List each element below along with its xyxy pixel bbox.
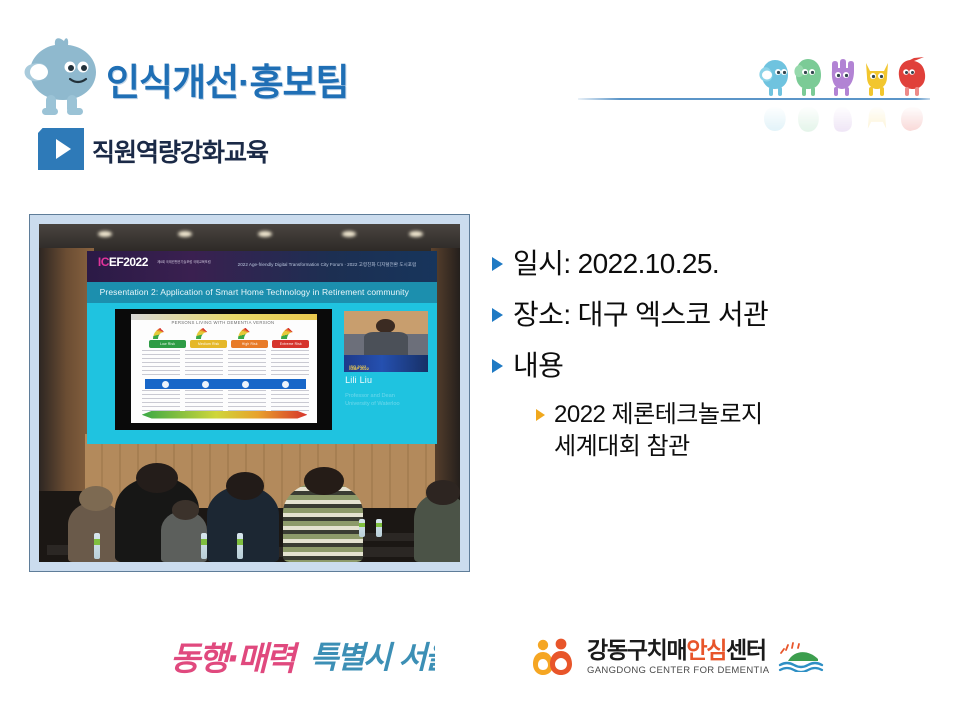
water-bottle (376, 519, 382, 537)
page-title: 인식개선·홍보팀 (106, 52, 349, 106)
bullet-item-date: 일시: 2022.10.25. (492, 246, 932, 283)
bullet-text: 장소: 대구 엑스코 서관 (513, 297, 768, 334)
text-column (142, 350, 181, 378)
speaker-name: Lili Liu (345, 375, 372, 385)
slide-presentation-title: Presentation 2: Application of Smart Hom… (87, 287, 409, 297)
bullet-triangle-icon (492, 308, 503, 322)
chart-text-columns-lower (142, 390, 310, 412)
risk-gauge-icon (281, 327, 305, 339)
gauge-row (153, 327, 306, 339)
water-bottle (359, 519, 365, 537)
seoul-slogan-part2: 특별시 서울 (310, 640, 435, 676)
ceiling-light (178, 231, 192, 237)
slide-logo-prefix: IC (98, 255, 109, 269)
slide-content-area: PERSONS LIVING WITH DEMENTIA VERSION Low… (115, 309, 332, 430)
bullet-triangle-icon (492, 257, 503, 271)
speaker-photo: ISG 2022 IGBP 2022 (344, 311, 428, 372)
audience-person-head (136, 463, 178, 493)
yellow-cat-character-icon (861, 54, 893, 98)
category-icon (202, 381, 209, 388)
seoul-slogan-part1: 동행·매력 (170, 639, 300, 678)
sub-bullet-triangle-icon (536, 409, 545, 421)
risk-gauge-icon (196, 327, 220, 339)
chart-text-columns (142, 350, 310, 378)
text-column (228, 350, 267, 378)
bullet-list: 일시: 2022.10.25. 장소: 대구 엑스코 서관 내용 2022 제론… (492, 246, 932, 463)
category-icon (162, 381, 169, 388)
bullet-item-content: 내용 (492, 348, 932, 385)
category-icon (242, 381, 249, 388)
gangdong-text-block: 강동구치매안심센터 GANGDONG CENTER FOR DEMENTIA (587, 638, 769, 675)
audience-person-head (79, 486, 113, 511)
ceiling-light (342, 231, 356, 237)
water-bottle (237, 533, 243, 559)
play-triangle-icon (56, 139, 71, 159)
gangdong-figure-icon (532, 638, 580, 676)
purple-creature-character-icon (826, 54, 858, 98)
risk-level-chips: Low Risk Medium Risk High Risk Extreme R… (149, 340, 309, 348)
gradient-arrow (142, 411, 308, 419)
text-column (271, 350, 310, 378)
play-button-chip (38, 128, 84, 170)
header-decoration (578, 48, 930, 122)
slide-logo-subtext: 제6회 국제컨벤션기술포럼 국제교육포럼 (157, 260, 210, 264)
ceiling (39, 224, 460, 254)
sub-bullet-item: 2022 제론테크놀로지 세계대회 참관 (536, 399, 932, 463)
audience-area (39, 447, 460, 562)
conference-photo: ICEF2022 제6회 국제컨벤션기술포럼 국제교육포럼 2022 Age-f… (39, 224, 460, 562)
bullet-item-location: 장소: 대구 엑스코 서관 (492, 297, 932, 334)
podium-badge-2: IGBP 2022 (349, 366, 369, 371)
gangdong-emblem-icon (778, 642, 826, 672)
blue-bird-character-icon (758, 54, 790, 98)
sub-bullet-text-line1: 2022 제론테크놀로지 (554, 399, 763, 431)
sub-bullet-text-line2: 세계대회 참관 (554, 431, 763, 463)
bullet-triangle-icon (492, 359, 503, 373)
mascot-character-reflection (758, 102, 930, 136)
podium: ISG 2022 IGBP 2022 (344, 355, 428, 372)
risk-chip: Extreme Risk (272, 340, 309, 348)
blue-creature-mascot-icon (18, 34, 110, 118)
text-column (142, 390, 181, 412)
audience-person-head (226, 472, 264, 500)
gd-kr-4: 센터 (726, 637, 766, 663)
gangdong-korean-name: 강동구치매안심센터 (587, 638, 769, 662)
photo-frame: ICEF2022 제6회 국제컨벤션기술포럼 국제교육포럼 2022 Age-f… (29, 214, 470, 572)
audience-person-head (172, 500, 199, 520)
green-bird-character-icon (793, 54, 823, 98)
water-bottle (94, 533, 100, 559)
risk-chip: High Risk (231, 340, 268, 348)
header-divider-line (578, 98, 930, 100)
mascot-character-row (758, 48, 930, 98)
gangdong-center-for-dementia-logo: 강동구치매안심센터 GANGDONG CENTER FOR DEMENTIA (532, 629, 832, 685)
seoul-city-slogan-logo: 동행·매력 특별시 서울 (170, 630, 435, 686)
gangdong-english-name: GANGDONG CENTER FOR DEMENTIA (587, 665, 769, 676)
water-bottle (201, 533, 207, 559)
slide-logo-main: EF2022 (109, 255, 148, 269)
ceiling-light (258, 231, 272, 237)
risk-gauge-icon (238, 327, 262, 339)
gd-kr-3: 안심 (686, 637, 726, 663)
bullet-text: 내용 (513, 348, 563, 385)
slide-canvas: 인식개선·홍보팀 직원역량강화교육 (0, 0, 960, 720)
speaker-body (364, 332, 408, 357)
bullet-text: 일시: 2022.10.25. (513, 246, 719, 283)
speaker-head (376, 319, 394, 332)
speaker-role: Professor and Dean University of Waterlo… (345, 392, 400, 408)
section-subtitle: 직원역량강화교육 (92, 133, 268, 169)
slide-title-band: Presentation 2: Application of Smart Hom… (87, 282, 436, 303)
gd-kr-1: 강동구 (587, 637, 647, 663)
red-bird-character-icon (896, 54, 928, 98)
risk-chart: PERSONS LIVING WITH DEMENTIA VERSION Low… (131, 314, 317, 423)
slide-forum-text: 2022 Age-friendly Digital Transformation… (238, 262, 417, 268)
text-column (185, 350, 224, 378)
text-column (228, 390, 267, 412)
text-column (185, 390, 224, 412)
chart-icon-bar (145, 379, 305, 389)
ceiling-light (98, 231, 112, 237)
gd-kr-2: 치매 (647, 637, 687, 663)
risk-chip: Low Risk (149, 340, 186, 348)
slide-logo: ICEF2022 (98, 255, 148, 269)
projection-screen: ICEF2022 제6회 국제컨벤션기술포럼 국제교육포럼 2022 Age-f… (87, 251, 436, 444)
risk-gauge-icon (153, 327, 177, 339)
risk-chip: Medium Risk (190, 340, 227, 348)
audience-person-head (426, 480, 460, 504)
text-column (271, 390, 310, 412)
ceiling-light (409, 231, 423, 237)
chart-title: PERSONS LIVING WITH DEMENTIA VERSION (172, 320, 275, 325)
speaker-panel: ISG 2022 IGBP 2022 Lili Liu Professor an… (344, 311, 428, 427)
category-icon (282, 381, 289, 388)
